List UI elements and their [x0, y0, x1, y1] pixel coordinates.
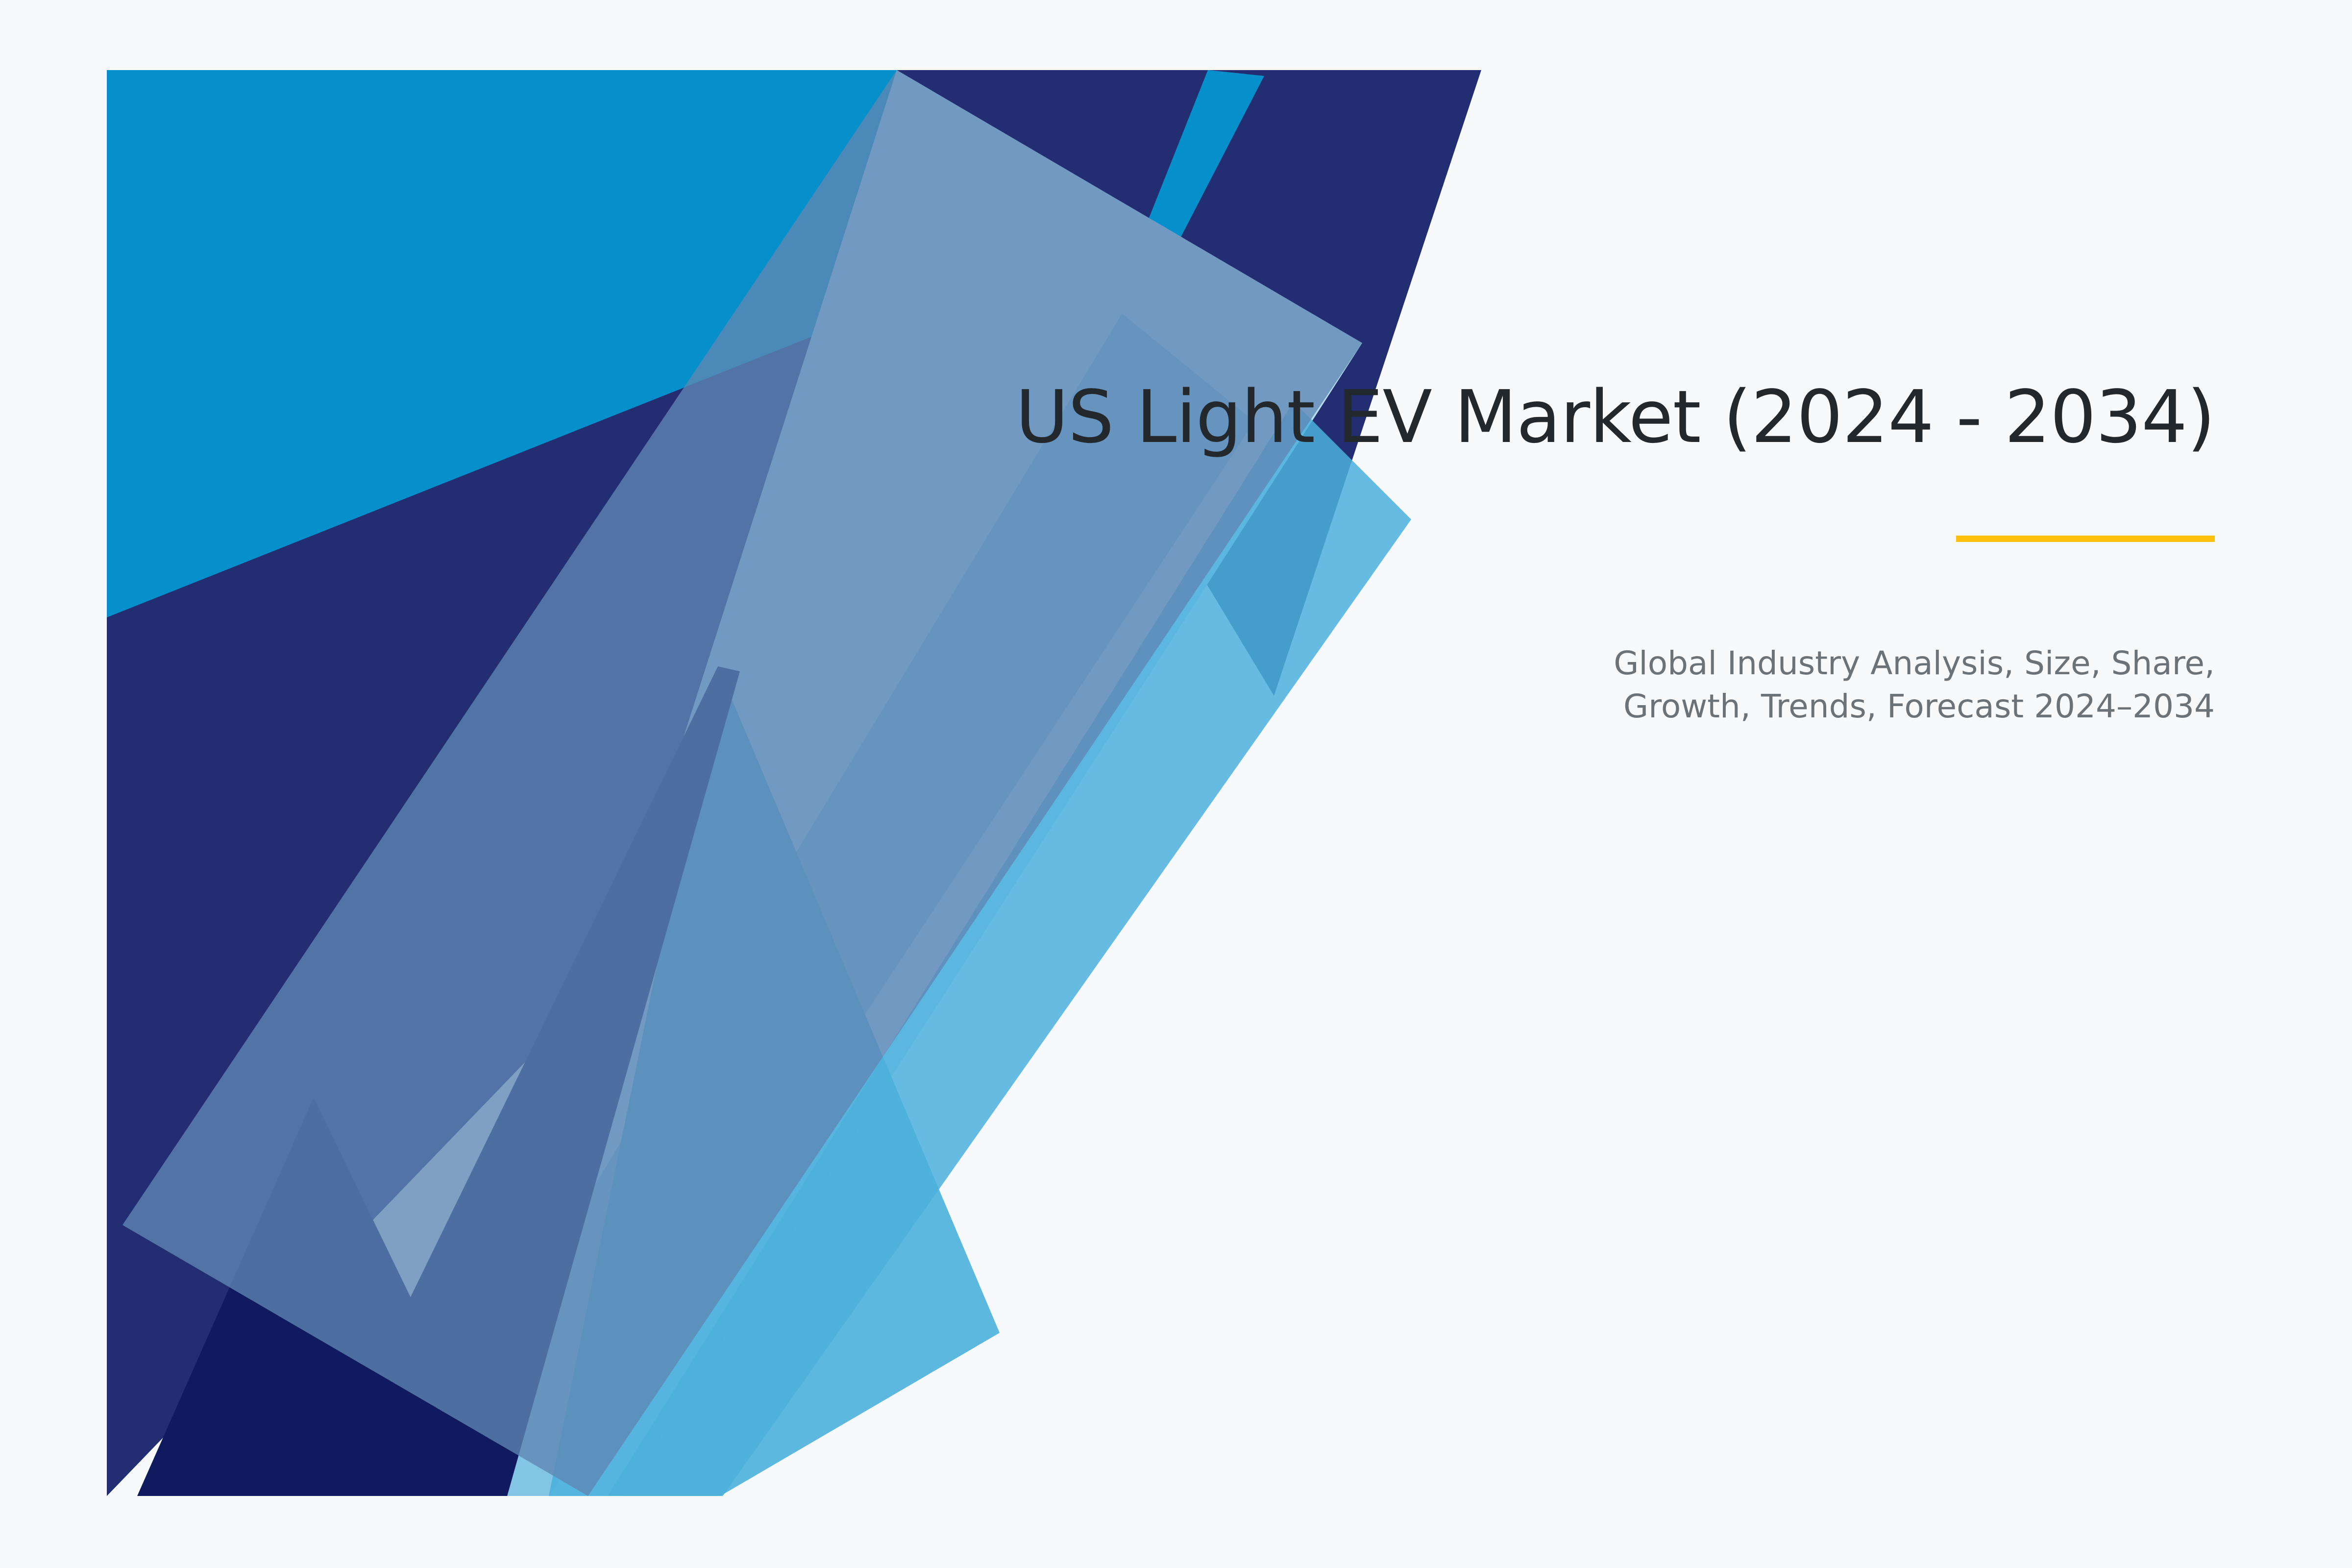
abstract-polygon-graphic — [0, 0, 2352, 1568]
pale-blue-parallelogram — [441, 70, 1362, 1496]
navy-wedge-upper — [107, 70, 1481, 1496]
page-title: US Light EV Market (2024 - 2034) — [794, 377, 2215, 457]
slide-canvas: US Light EV Market (2024 - 2034) Global … — [0, 0, 2352, 1568]
mid-blue-band — [549, 666, 1000, 1496]
deep-navy-spike — [314, 666, 740, 1496]
title-block: US Light EV Market (2024 - 2034) Global … — [794, 377, 2215, 729]
cyan-field — [107, 70, 1481, 1496]
slate-blue-overlay — [122, 70, 1362, 1496]
page-subtitle: Global Industry Analysis, Size, Share, G… — [1578, 544, 2215, 729]
accent-rule — [1956, 536, 2215, 542]
deep-navy-spike — [137, 1098, 507, 1496]
